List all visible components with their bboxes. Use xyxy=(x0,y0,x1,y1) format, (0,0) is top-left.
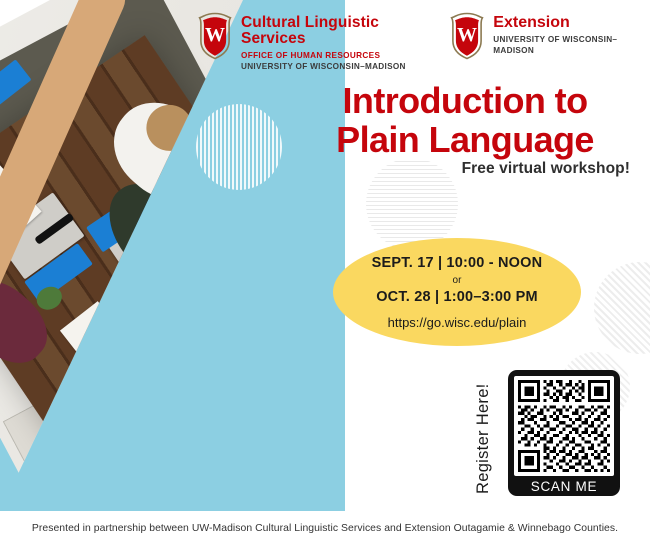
registration-url[interactable]: https://go.wisc.edu/plain xyxy=(388,315,527,330)
qr-card[interactable]: SCAN ME xyxy=(508,370,620,496)
page-title: Introduction to Plain Language xyxy=(300,82,630,159)
qr-code-icon[interactable] xyxy=(518,380,610,472)
diagonal-striped-circle xyxy=(594,262,650,354)
logo-subtitle-university: UNIVERSITY OF WISCONSIN–MADISON xyxy=(493,34,640,56)
logo-subtitle-office: OFFICE OF HUMAN RESOURCES xyxy=(241,50,426,61)
logo-subtitle-university: UNIVERSITY OF WISCONSIN–MADISON xyxy=(241,61,426,72)
session-2-text: OCT. 28 | 1:00–3:00 PM xyxy=(376,288,538,306)
session-separator: or xyxy=(453,274,462,287)
uw-crest-icon: W xyxy=(196,12,234,60)
session-details-callout: SEPT. 17 | 10:00 - NOON or OCT. 28 | 1:0… xyxy=(333,238,581,346)
qr-section: Register Here! xyxy=(480,370,620,500)
flyer-canvas: W Cultural Linguistic Services OFFICE OF… xyxy=(0,0,650,545)
headline-line-2: Plain Language xyxy=(300,121,630,160)
session-1-text: SEPT. 17 | 10:00 - NOON xyxy=(372,254,543,272)
register-here-label: Register Here! xyxy=(474,368,493,494)
logo-text-block: Extension UNIVERSITY OF WISCONSIN–MADISO… xyxy=(493,12,640,56)
headline-line-1: Introduction to xyxy=(300,82,630,121)
logo-text-block: Cultural Linguistic Services OFFICE OF H… xyxy=(241,12,426,72)
footer-text: Presented in partnership between UW-Madi… xyxy=(32,523,618,534)
vertical-striped-circle xyxy=(196,104,282,190)
logo-cultural-linguistic-services: W Cultural Linguistic Services OFFICE OF… xyxy=(196,12,426,72)
logo-bar: W Cultural Linguistic Services OFFICE OF… xyxy=(196,12,640,66)
svg-text:W: W xyxy=(205,24,225,46)
artwork-panel xyxy=(0,0,400,512)
logo-extension: W Extension UNIVERSITY OF WISCONSIN–MADI… xyxy=(448,12,640,60)
svg-text:W: W xyxy=(457,24,477,46)
footer-bar: Presented in partnership between UW-Madi… xyxy=(0,512,650,545)
uw-crest-icon: W xyxy=(448,12,486,60)
scan-me-label: SCAN ME xyxy=(531,476,597,496)
subtitle: Free virtual workshop! xyxy=(300,160,630,178)
qr-code-area[interactable] xyxy=(514,376,614,476)
logo-title: Cultural Linguistic Services xyxy=(241,15,426,48)
logo-title: Extension xyxy=(493,15,640,32)
